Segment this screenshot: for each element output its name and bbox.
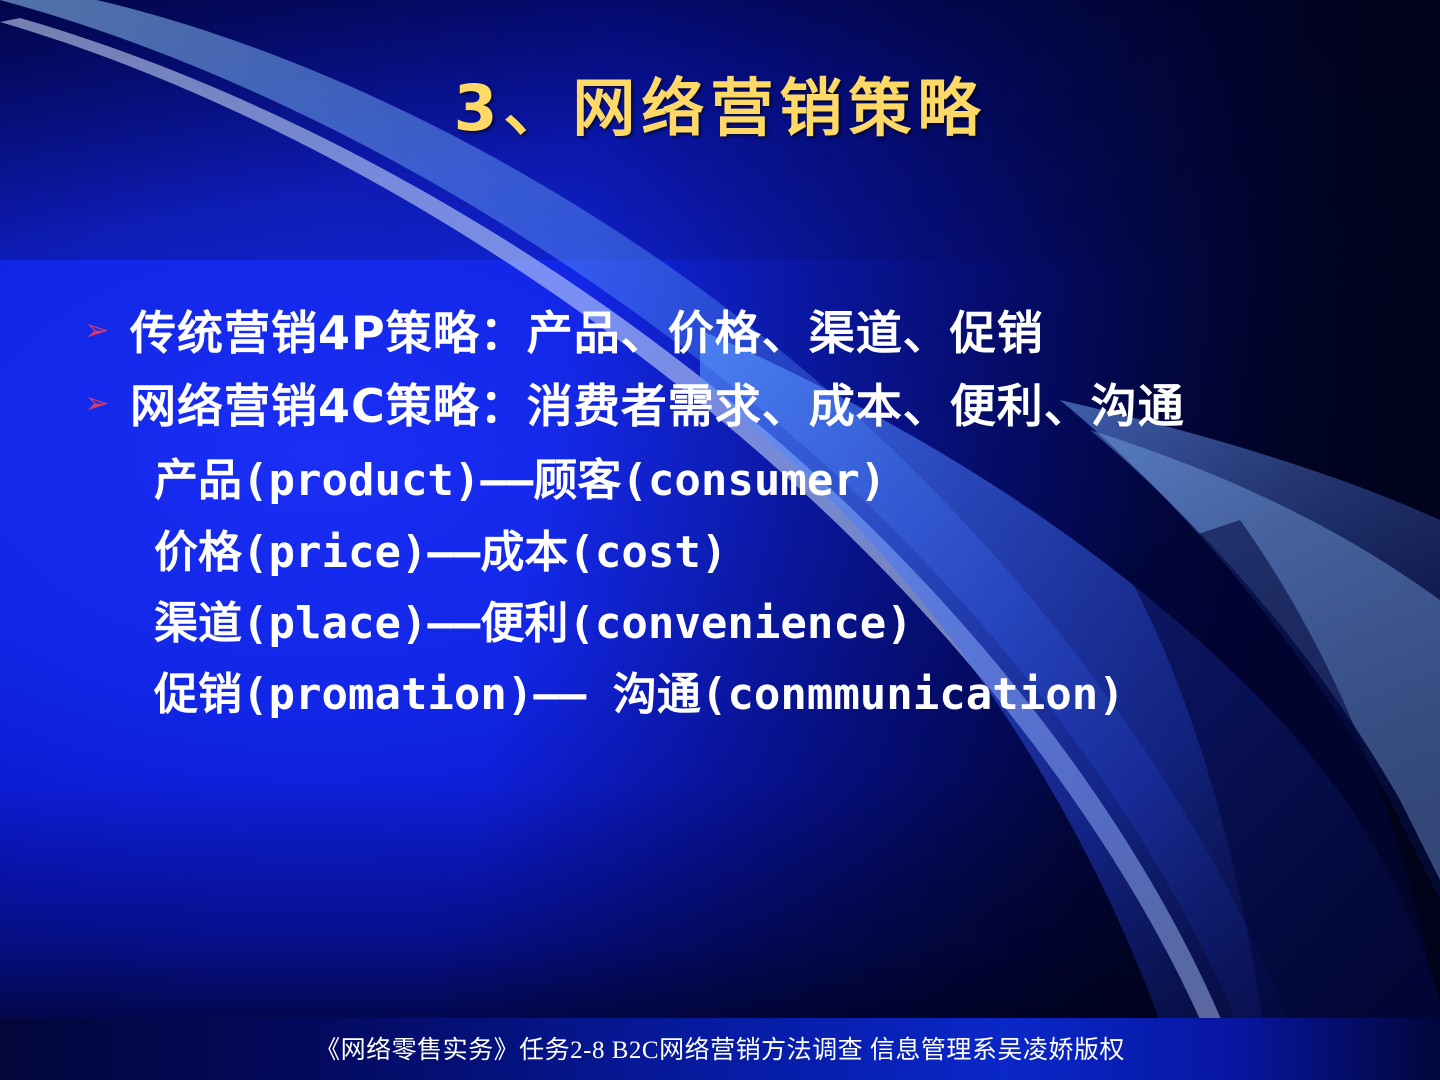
arrow-bullet-icon: ➢	[64, 373, 130, 419]
bullet-item-2: ➢ 网络营销4C策略：消费者需求、成本、便利、沟通	[64, 373, 1440, 440]
mapping-line-place: 渠道(place)——便利(convenience)	[154, 588, 1440, 659]
bullet-text: 网络营销4C策略：消费者需求、成本、便利、沟通	[130, 373, 1185, 440]
footer-text: 《网络零售实务》任务2-8 B2C网络营销方法调查 信息管理系吴凌娇版权	[0, 1030, 1440, 1066]
bullet-text: 传统营销4P策略：产品、价格、渠道、促销	[130, 300, 1044, 367]
mapping-line-product: 产品(product)——顾客(consumer)	[154, 445, 1440, 516]
mapping-line-promotion: 促销(promation)—— 沟通(conmmunication)	[154, 659, 1440, 730]
mapping-line-price: 价格(price)——成本(cost)	[154, 517, 1440, 588]
slide: 3、网络营销策略 ➢ 传统营销4P策略：产品、价格、渠道、促销 ➢ 网络营销4C…	[0, 0, 1440, 1080]
bullet-item-1: ➢ 传统营销4P策略：产品、价格、渠道、促销	[64, 300, 1440, 367]
slide-body: ➢ 传统营销4P策略：产品、价格、渠道、促销 ➢ 网络营销4C策略：消费者需求、…	[64, 300, 1440, 730]
arrow-bullet-icon: ➢	[64, 300, 130, 346]
page-title: 3、网络营销策略	[0, 58, 1440, 149]
